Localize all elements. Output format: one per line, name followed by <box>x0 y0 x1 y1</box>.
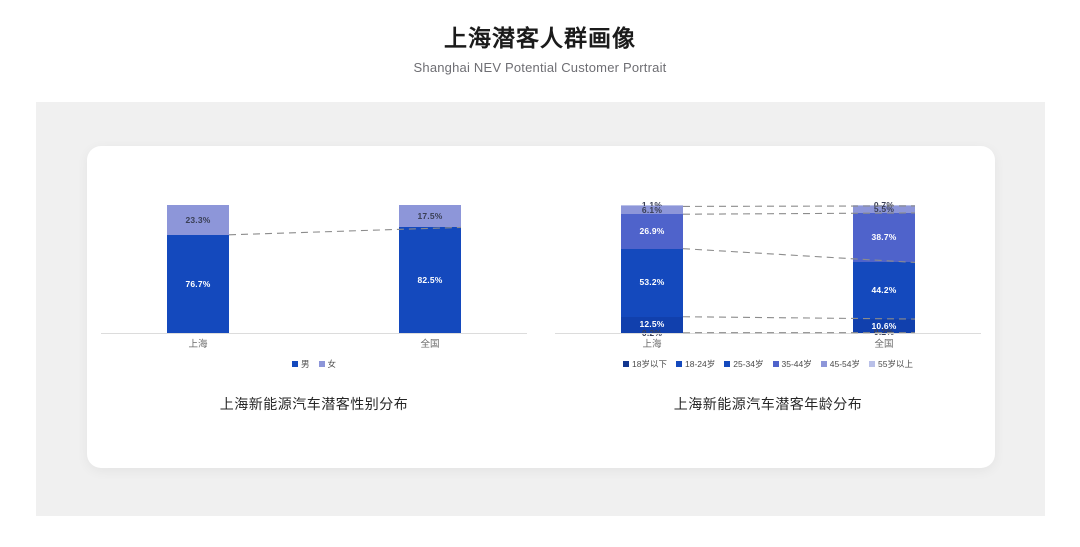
category-labels: 上海全国 <box>87 336 541 350</box>
segment-value-label: 26.9% <box>639 227 664 236</box>
bar-segment[interactable]: 6.1% <box>621 206 683 214</box>
legend-item[interactable]: 45-54岁 <box>821 358 860 370</box>
plot-area-gender: 23.3%76.7%17.5%82.5% <box>87 186 541 334</box>
chart-age: 1.1%6.1%26.9%53.2%12.5%0.2%0.7%5.5%38.7%… <box>541 146 995 468</box>
charts-card: 23.3%76.7%17.5%82.5%上海全国男女上海新能源汽车潜客性别分布1… <box>87 146 995 468</box>
category-labels: 上海全国 <box>541 336 995 350</box>
segment-value-label: 44.2% <box>871 286 896 295</box>
content-panel: 23.3%76.7%17.5%82.5%上海全国男女上海新能源汽车潜客性别分布1… <box>36 102 1045 516</box>
legend-swatch-icon <box>319 361 325 367</box>
charts-row: 23.3%76.7%17.5%82.5%上海全国男女上海新能源汽车潜客性别分布1… <box>87 146 995 468</box>
bar-age-national[interactable]: 0.7%5.5%38.7%44.2%10.6%0.2% <box>853 205 915 333</box>
bar-segment[interactable]: 53.2% <box>621 249 683 317</box>
legend-label: 女 <box>328 358 337 370</box>
legend-swatch-icon <box>869 361 875 367</box>
segment-value-label: 38.7% <box>871 233 896 242</box>
bar-segment[interactable]: 38.7% <box>853 213 915 263</box>
bar-segment[interactable]: 82.5% <box>399 227 461 333</box>
x-axis-line <box>555 333 981 334</box>
category-label: 上海 <box>621 336 683 350</box>
legend-swatch-icon <box>773 361 779 367</box>
legend-item[interactable]: 女 <box>319 358 337 370</box>
legend-gender: 男女 <box>87 358 541 370</box>
page-subtitle: Shanghai NEV Potential Customer Portrait <box>0 60 1080 75</box>
legend-label: 25-34岁 <box>733 358 763 370</box>
chart-gender: 23.3%76.7%17.5%82.5%上海全国男女上海新能源汽车潜客性别分布 <box>87 146 541 468</box>
bar-segment[interactable]: 44.2% <box>853 262 915 319</box>
segment-value-label: 82.5% <box>417 276 442 285</box>
legend-swatch-icon <box>724 361 730 367</box>
chart-caption: 上海新能源汽车潜客性别分布 <box>87 394 541 414</box>
category-label: 全国 <box>399 336 461 350</box>
connector-lines <box>87 186 541 334</box>
legend-label: 35-44岁 <box>782 358 812 370</box>
category-label: 上海 <box>167 336 229 350</box>
bar-segment[interactable]: 23.3% <box>167 205 229 235</box>
chart-caption: 上海新能源汽车潜客年龄分布 <box>541 394 995 414</box>
legend-label: 18-24岁 <box>685 358 715 370</box>
page-title: 上海潜客人群画像 <box>0 24 1080 53</box>
segment-value-label: 17.5% <box>417 212 442 221</box>
legend-item[interactable]: 18-24岁 <box>676 358 715 370</box>
legend-label: 男 <box>301 358 310 370</box>
bar-segment[interactable]: 76.7% <box>167 235 229 333</box>
legend-item[interactable]: 55岁以上 <box>869 358 913 370</box>
connector-lines <box>541 186 995 334</box>
legend-label: 55岁以上 <box>878 358 913 370</box>
legend-label: 45-54岁 <box>830 358 860 370</box>
legend-swatch-icon <box>676 361 682 367</box>
bar-segment[interactable]: 17.5% <box>399 205 461 227</box>
legend-age: 18岁以下18-24岁25-34岁35-44岁45-54岁55岁以上 <box>541 358 995 370</box>
legend-item[interactable]: 18岁以下 <box>623 358 667 370</box>
category-label: 全国 <box>853 336 915 350</box>
legend-swatch-icon <box>623 361 629 367</box>
legend-item[interactable]: 35-44岁 <box>773 358 812 370</box>
legend-swatch-icon <box>821 361 827 367</box>
bar-segment[interactable]: 5.5% <box>853 206 915 213</box>
bar-age-shanghai[interactable]: 1.1%6.1%26.9%53.2%12.5%0.2% <box>621 205 683 333</box>
segment-value-label: 23.3% <box>185 216 210 225</box>
bar-gender-shanghai[interactable]: 23.3%76.7% <box>167 205 229 333</box>
segment-value-label: 76.7% <box>185 280 210 289</box>
x-axis-line <box>101 333 527 334</box>
segment-value-label: 53.2% <box>639 278 664 287</box>
bar-gender-national[interactable]: 17.5%82.5% <box>399 205 461 333</box>
bar-segment[interactable]: 26.9% <box>621 214 683 248</box>
legend-label: 18岁以下 <box>632 358 667 370</box>
page-header: 上海潜客人群画像 Shanghai NEV Potential Customer… <box>0 0 1080 75</box>
legend-swatch-icon <box>292 361 298 367</box>
legend-item[interactable]: 25-34岁 <box>724 358 763 370</box>
plot-area-age: 1.1%6.1%26.9%53.2%12.5%0.2%0.7%5.5%38.7%… <box>541 186 995 334</box>
legend-item[interactable]: 男 <box>292 358 310 370</box>
